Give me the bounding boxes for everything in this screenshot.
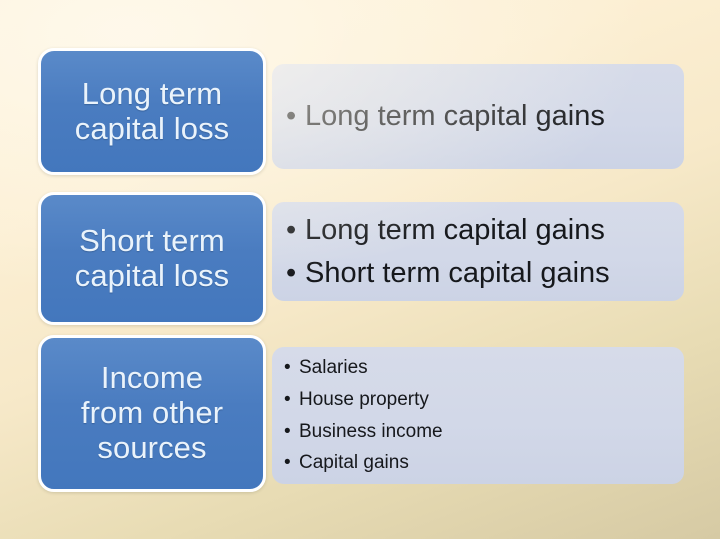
category-tile-label: Incomefrom othersources [75, 361, 229, 465]
tile-line-1: Income [101, 360, 203, 395]
list-item: House property [284, 384, 674, 416]
bullet-list-1: Long term capital gains [286, 102, 674, 132]
list-item: Long term capital gains [286, 102, 674, 132]
tile-line-2: from other [81, 395, 223, 430]
content-panel-2: Long term capital gains Short term capit… [272, 202, 684, 301]
list-item: Long term capital gains [286, 209, 674, 252]
category-tile-label: Short termcapital loss [69, 224, 236, 293]
list-item: Short term capital gains [286, 252, 674, 295]
tile-line-1: Long term [82, 76, 222, 111]
content-panel-1: Long term capital gains [272, 64, 684, 169]
list-item: Business income [284, 416, 674, 448]
tile-line-1: Short term [79, 223, 225, 258]
bullet-list-2: Long term capital gains Short term capit… [286, 209, 674, 295]
list-item: Capital gains [284, 447, 674, 479]
slide-canvas: Long term capital gains Long termcapital… [0, 0, 720, 539]
category-tile-income-from-other-sources[interactable]: Incomefrom othersources [38, 335, 266, 492]
tile-line-3: sources [97, 430, 206, 465]
category-tile-short-term-capital-loss[interactable]: Short termcapital loss [38, 192, 266, 325]
bullet-list-3: Salaries House property Business income … [284, 352, 674, 480]
category-tile-label: Long termcapital loss [69, 77, 236, 146]
content-panel-3: Salaries House property Business income … [272, 347, 684, 484]
list-item: Salaries [284, 352, 674, 384]
tile-line-2: capital loss [75, 258, 230, 293]
category-tile-long-term-capital-loss[interactable]: Long termcapital loss [38, 48, 266, 175]
tile-line-2: capital loss [75, 111, 230, 146]
